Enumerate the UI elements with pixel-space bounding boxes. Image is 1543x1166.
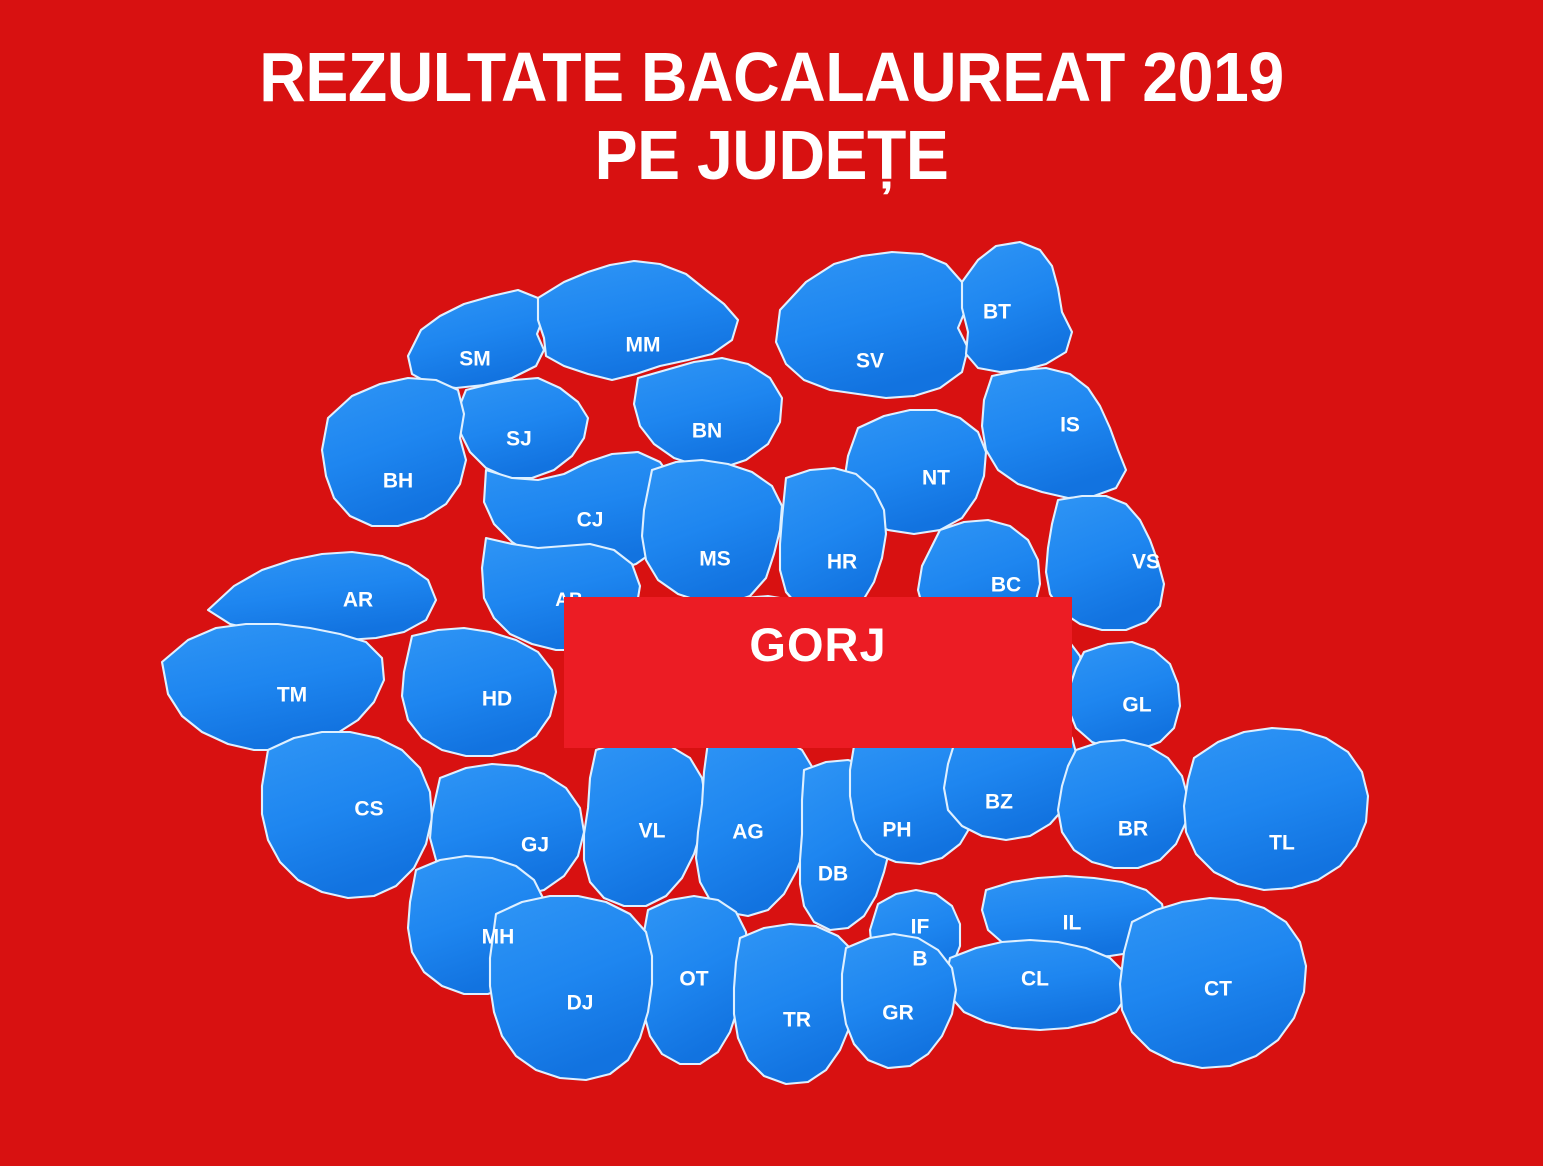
- county-SM[interactable]: [408, 290, 544, 388]
- poster-canvas: REZULTATE BACALAUREAT 2019 PE JUDEȚE: [0, 0, 1543, 1166]
- county-label-DJ: DJ: [567, 992, 594, 1015]
- county-label-OT: OT: [679, 968, 708, 991]
- county-label-GR: GR: [882, 1002, 914, 1025]
- county-label-MH: MH: [482, 926, 515, 949]
- county-label-TR: TR: [783, 1009, 811, 1032]
- county-label-IF: IF: [911, 916, 930, 939]
- county-label-HD: HD: [482, 688, 512, 711]
- county-label-BZ: BZ: [985, 791, 1013, 814]
- title-line-2: PE JUDEȚE: [62, 116, 1482, 194]
- page-title: REZULTATE BACALAUREAT 2019 PE JUDEȚE: [0, 38, 1543, 194]
- county-label-CJ: CJ: [577, 509, 604, 532]
- county-label-BN: BN: [692, 420, 722, 443]
- county-label-CL: CL: [1021, 968, 1049, 991]
- county-label-CT: CT: [1204, 978, 1232, 1001]
- county-label-SJ: SJ: [506, 428, 532, 451]
- county-HR[interactable]: [780, 468, 886, 616]
- county-label-SV: SV: [856, 350, 884, 373]
- county-label-CS: CS: [354, 798, 383, 821]
- county-SV[interactable]: [776, 252, 968, 398]
- county-label-DB: DB: [818, 863, 848, 886]
- county-BR[interactable]: [1058, 740, 1188, 868]
- county-TR[interactable]: [734, 924, 860, 1084]
- county-label-SM: SM: [459, 348, 491, 371]
- county-label-TM: TM: [277, 684, 307, 707]
- county-label-AR: AR: [343, 589, 373, 612]
- county-label-B: B: [912, 948, 927, 971]
- county-label-IS: IS: [1060, 414, 1080, 437]
- county-label-MS: MS: [699, 548, 731, 571]
- county-TL[interactable]: [1184, 728, 1368, 890]
- highlighted-county-label: GORJ: [749, 621, 886, 668]
- county-label-PH: PH: [882, 819, 911, 842]
- county-label-BC: BC: [991, 574, 1021, 597]
- county-label-BR: BR: [1118, 818, 1148, 841]
- county-BN[interactable]: [634, 358, 782, 468]
- county-label-VS: VS: [1132, 551, 1160, 574]
- county-label-VL: VL: [639, 820, 666, 843]
- county-MS[interactable]: [642, 460, 782, 604]
- county-BT[interactable]: [962, 242, 1072, 372]
- county-label-BT: BT: [983, 301, 1011, 324]
- county-DJ[interactable]: [490, 896, 652, 1080]
- county-CS[interactable]: [262, 732, 432, 898]
- highlighted-county-banner[interactable]: GORJ: [564, 597, 1072, 748]
- title-line-1: REZULTATE BACALAUREAT 2019: [62, 38, 1482, 116]
- county-label-TL: TL: [1269, 832, 1295, 855]
- county-label-AG: AG: [732, 821, 764, 844]
- county-label-GL: GL: [1122, 694, 1151, 717]
- county-label-GJ: GJ: [521, 834, 549, 857]
- county-IS[interactable]: [982, 368, 1126, 498]
- county-BH[interactable]: [322, 378, 466, 526]
- county-HD[interactable]: [402, 628, 556, 756]
- county-label-MM: MM: [626, 334, 661, 357]
- county-label-BH: BH: [383, 470, 413, 493]
- county-label-IL: IL: [1063, 912, 1082, 935]
- county-label-NT: NT: [922, 467, 950, 490]
- county-label-HR: HR: [827, 551, 857, 574]
